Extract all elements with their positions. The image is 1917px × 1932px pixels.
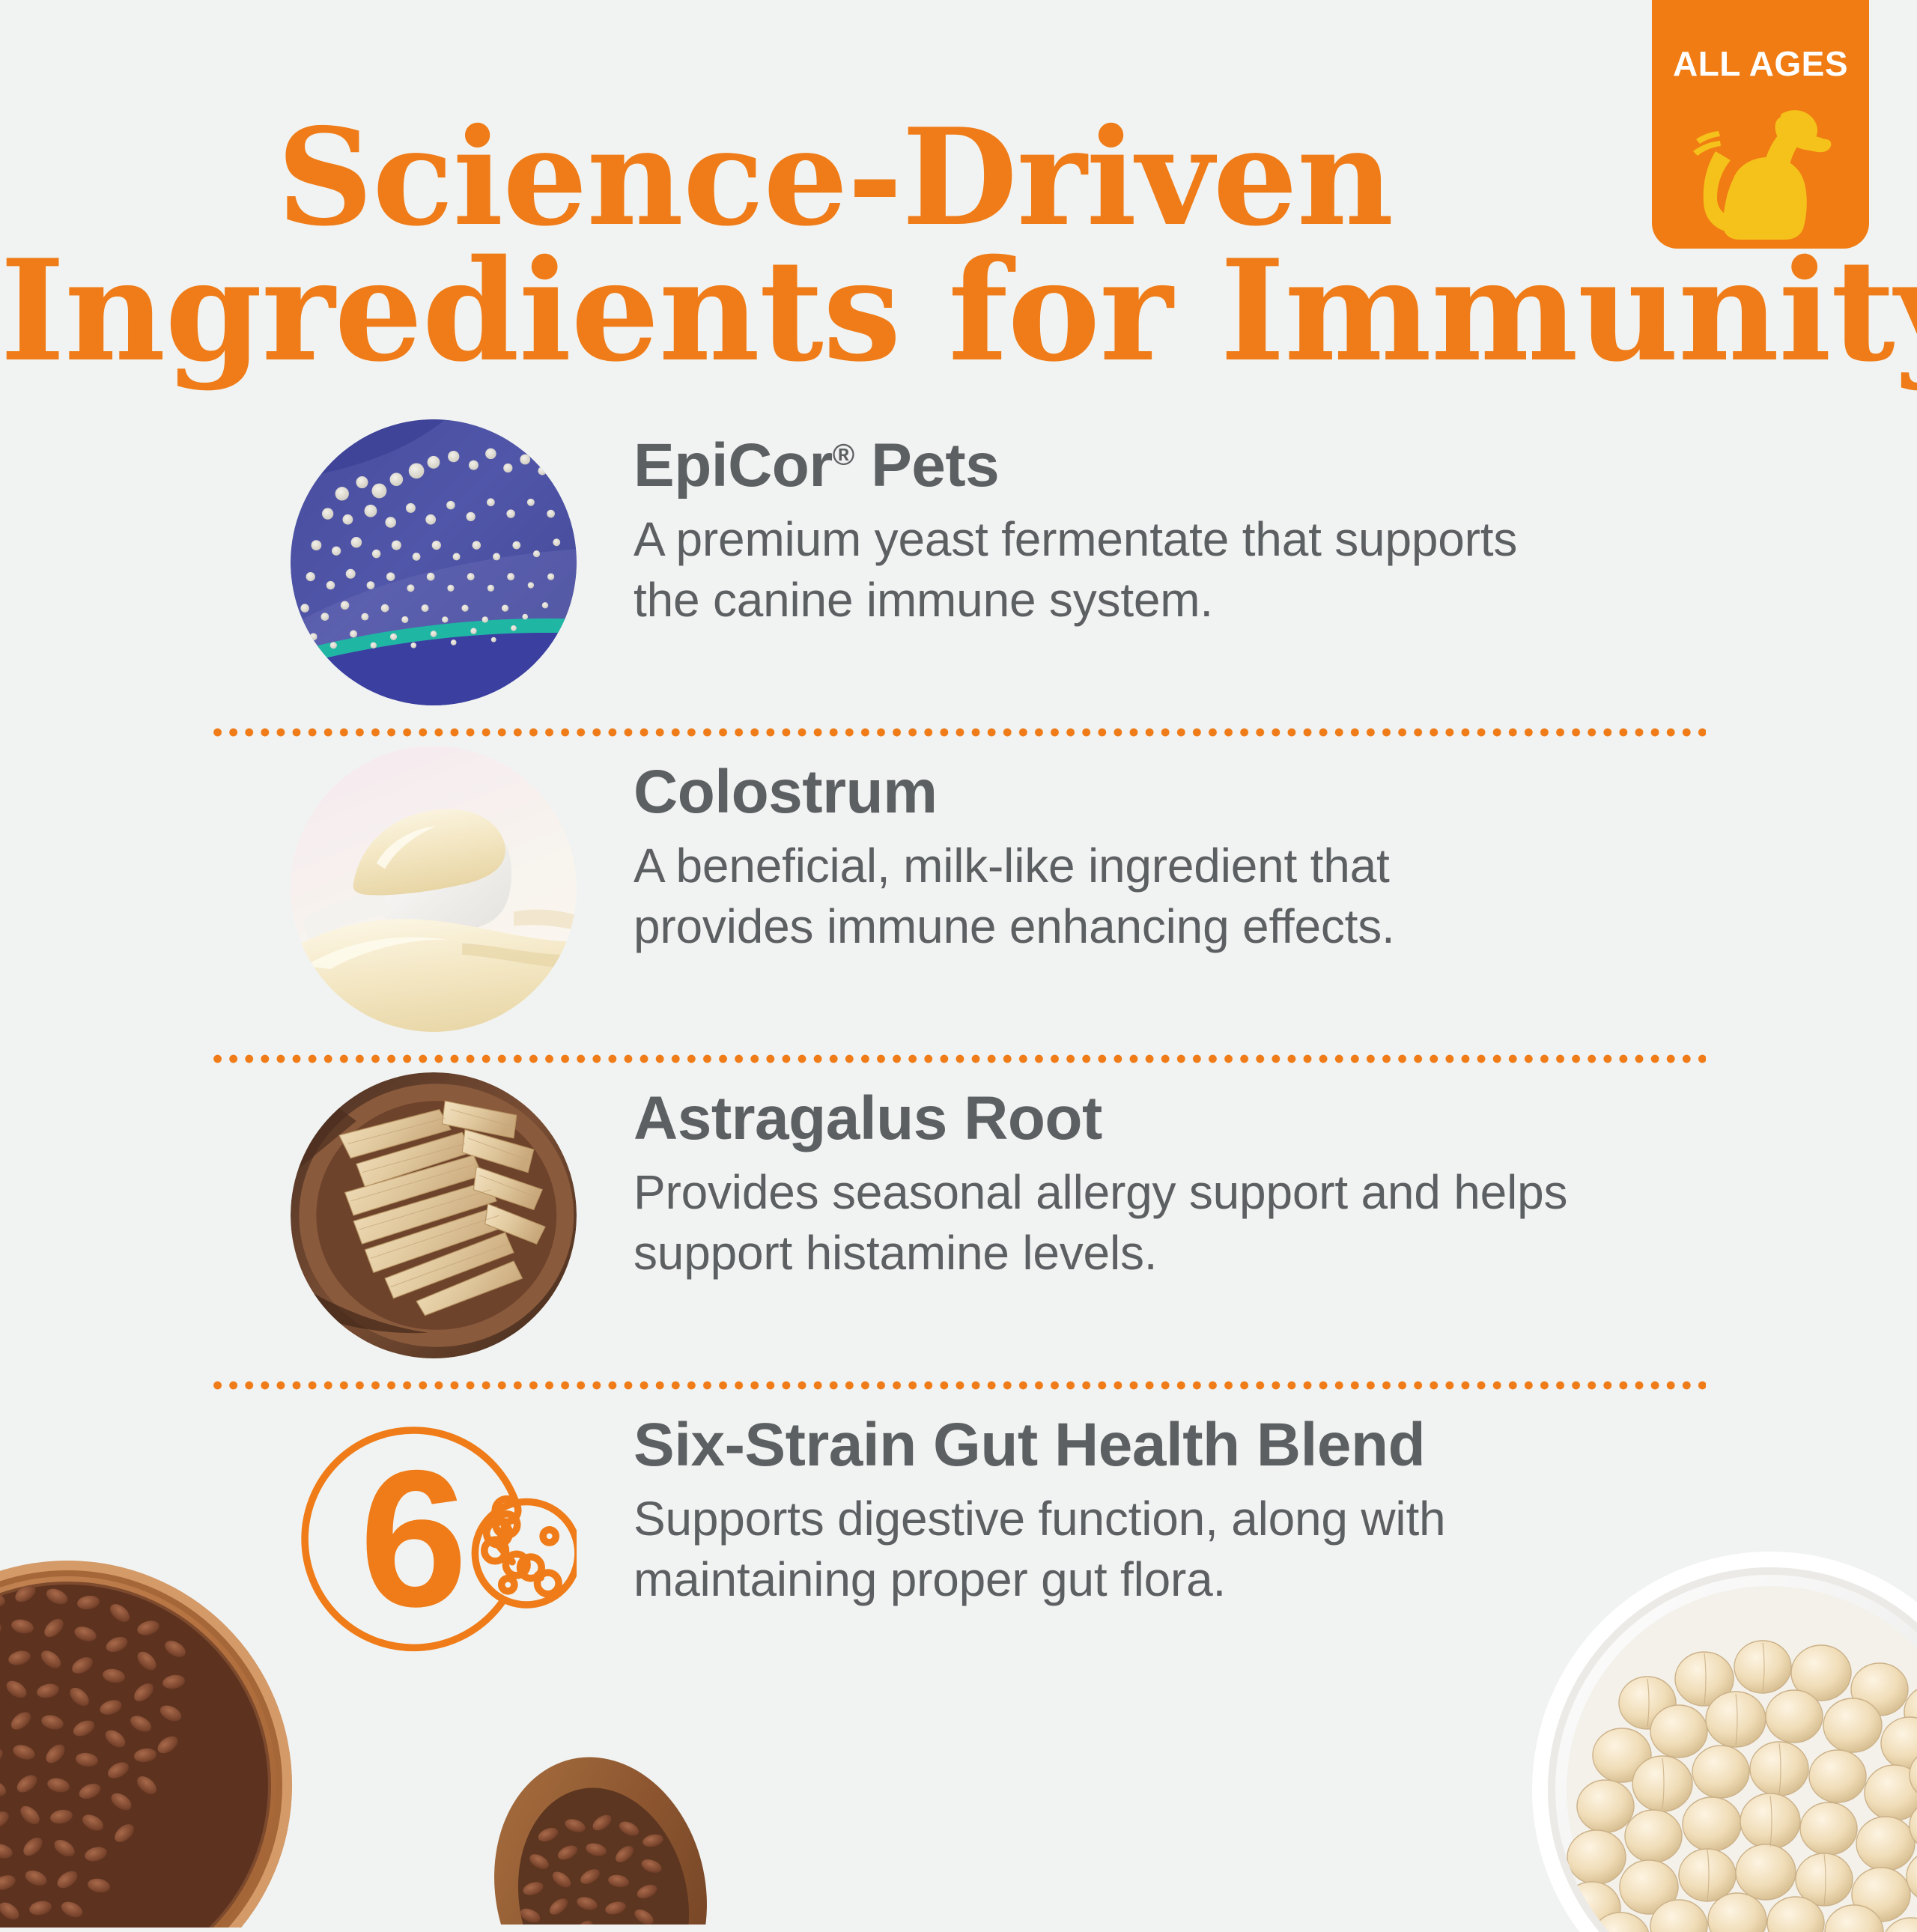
ingredient-media: 6 <box>291 1399 577 1685</box>
registered-trademark-icon: ® <box>833 439 854 472</box>
dotted-divider <box>210 719 1706 746</box>
title-line-2: Ingredients for Immunity <box>0 243 1917 379</box>
ingredient-media <box>291 1072 577 1358</box>
all-ages-label: ALL AGES <box>1673 46 1848 81</box>
colostrum-powder-scoop-photo <box>291 746 577 1032</box>
ingredient-description: Supports digestive function, along with … <box>634 1489 1577 1611</box>
page-title: Science-Driven Ingredients for Immunity <box>0 112 1917 380</box>
sitting-dog-silhouette-icon <box>1686 97 1835 244</box>
ingredient-row: Colostrum A beneficial, milk-like ingred… <box>0 746 1917 1045</box>
ingredient-text: EpiCor® Pets A premium yeast fermentate … <box>577 419 1917 631</box>
ingredient-title: Colostrum <box>634 761 1917 824</box>
ingredient-title: EpiCor® Pets <box>634 434 1917 497</box>
ingredient-media <box>291 419 577 705</box>
ingredient-row: 6 <box>0 1399 1917 1698</box>
six-number-label: 6 <box>359 1430 467 1647</box>
ingredient-text: Astragalus Root Provides seasonal allerg… <box>577 1072 1917 1284</box>
six-strain-probiotic-icon: 6 <box>291 1399 577 1685</box>
ingredient-description: A premium yeast fermentate that supports… <box>634 509 1577 631</box>
dotted-divider <box>210 1045 1706 1072</box>
ingredient-media <box>291 746 577 1032</box>
ingredient-text: Colostrum A beneficial, milk-like ingred… <box>577 746 1917 957</box>
astragalus-root-slices-photo <box>291 1072 577 1358</box>
ingredient-title: Six-Strain Gut Health Blend <box>634 1414 1917 1477</box>
ingredient-title-suffix: Pets <box>854 431 1000 499</box>
dotted-divider <box>210 1372 1706 1399</box>
ingredient-row: Astragalus Root Provides seasonal allerg… <box>0 1072 1917 1372</box>
ingredient-list: EpiCor® Pets A premium yeast fermentate … <box>0 419 1917 1698</box>
ingredient-description: A beneficial, milk-like ingredient that … <box>634 836 1577 958</box>
ingredient-row: EpiCor® Pets A premium yeast fermentate … <box>0 419 1917 719</box>
petri-dish-yeast-colonies-photo <box>291 419 577 705</box>
ingredient-text: Six-Strain Gut Health Blend Supports dig… <box>577 1399 1917 1610</box>
all-ages-badge: ALL AGES <box>1652 0 1869 249</box>
ingredient-title: Astragalus Root <box>634 1087 1917 1150</box>
flax-seed-wooden-spoon-photo <box>479 1730 794 1925</box>
title-line-1: Science-Driven <box>0 112 1917 243</box>
ingredient-description: Provides seasonal allergy support and he… <box>634 1162 1577 1284</box>
ingredient-title-main: EpiCor <box>634 431 833 499</box>
